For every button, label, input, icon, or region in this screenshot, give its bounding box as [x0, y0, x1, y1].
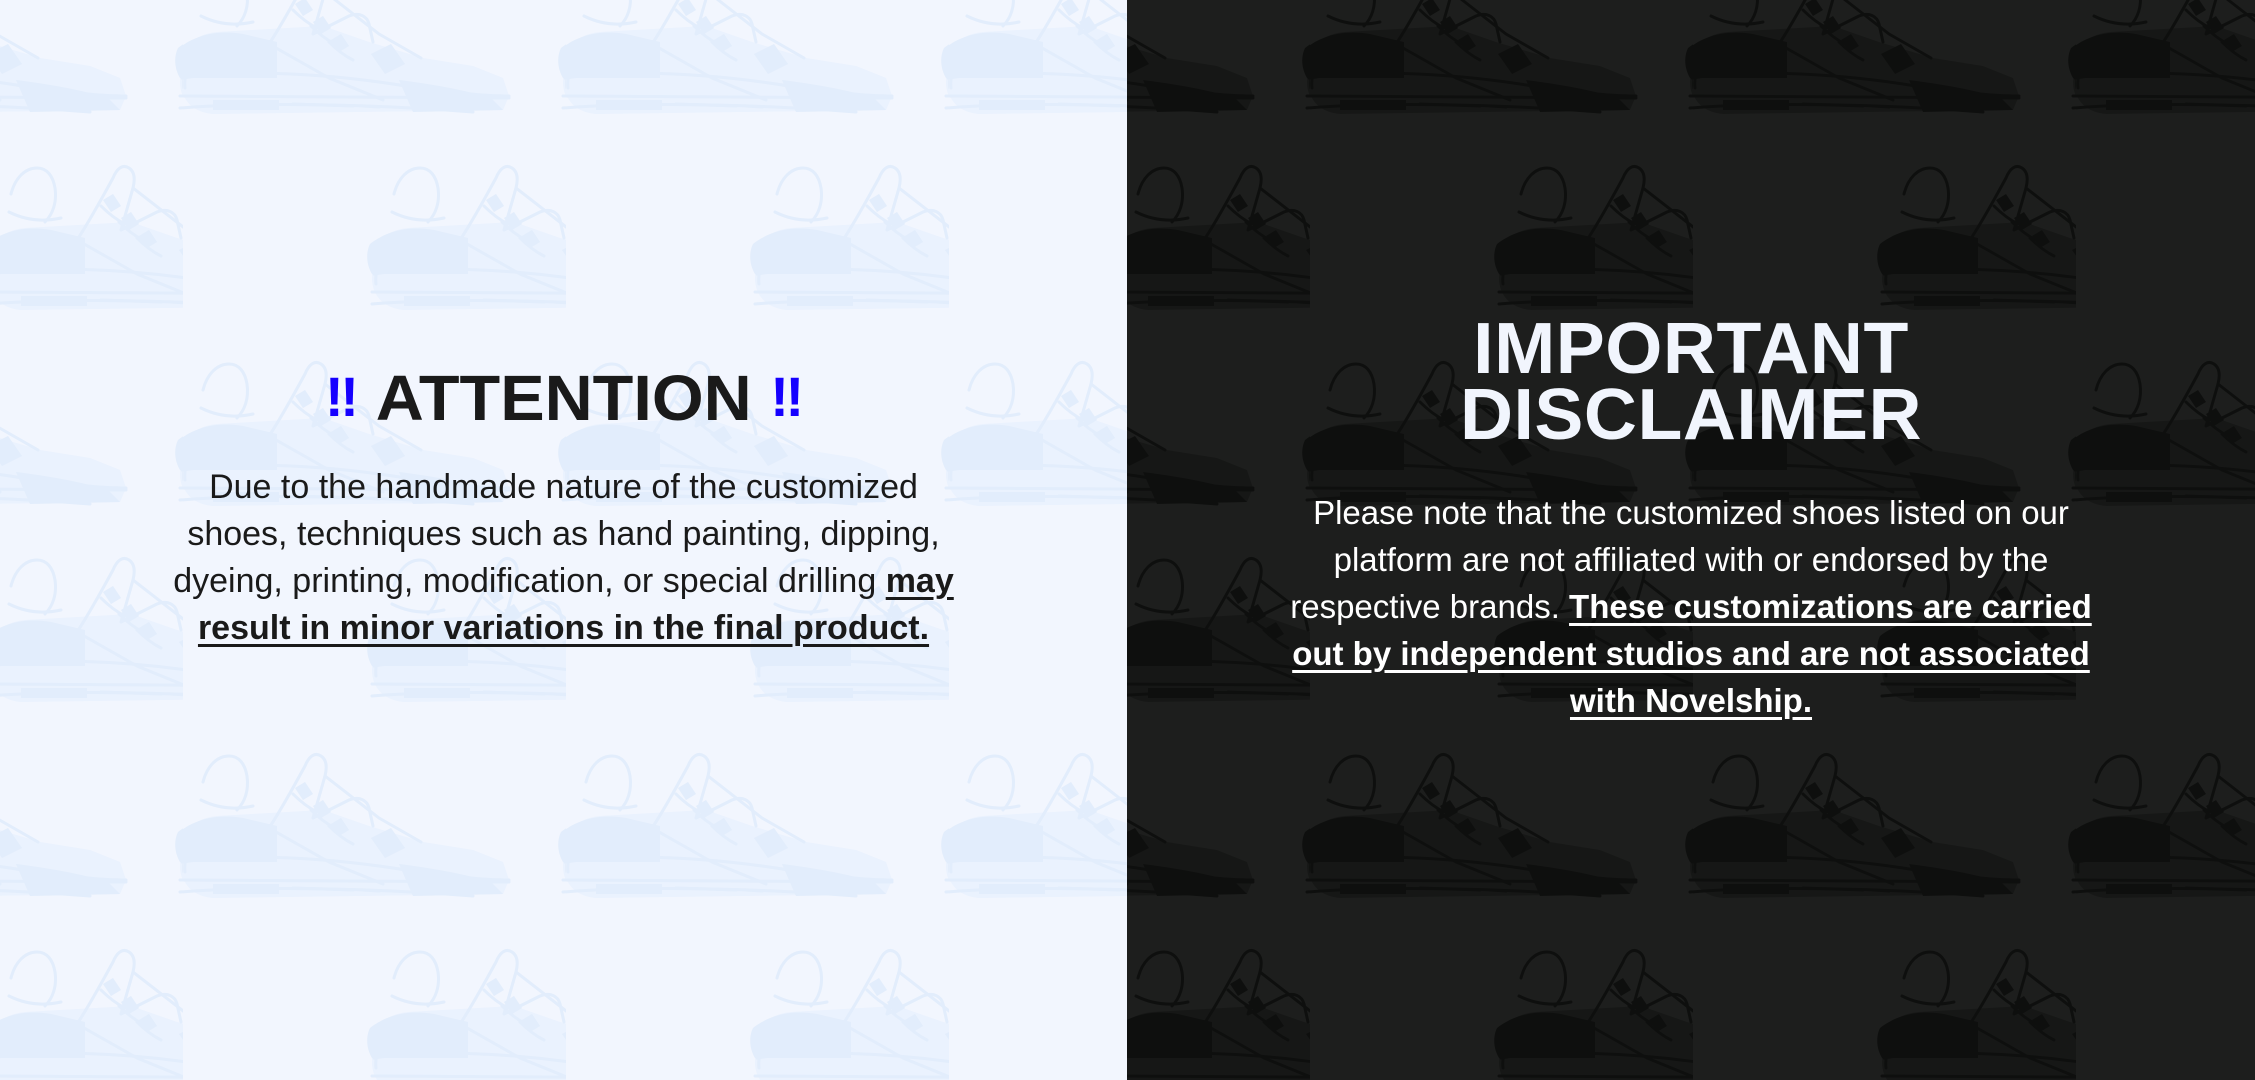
- double-exclamation-right-icon: ‼: [770, 369, 802, 425]
- attention-disclaimer-banner: ‼ ATTENTION ‼ Due to the handmade nature…: [0, 0, 2255, 1080]
- disclaimer-body: Please note that the customized shoes li…: [1285, 490, 2097, 724]
- attention-heading: ‼ ATTENTION ‼: [0, 368, 1127, 429]
- attention-heading-text: ATTENTION: [376, 368, 752, 429]
- attention-content: ‼ ATTENTION ‼ Due to the handmade nature…: [0, 368, 1127, 711]
- disclaimer-heading: IMPORTANT DISCLAIMER: [1127, 316, 2255, 448]
- disclaimer-content: IMPORTANT DISCLAIMER Please note that th…: [1127, 316, 2255, 765]
- disclaimer-heading-line-1: IMPORTANT: [1127, 316, 2255, 382]
- attention-body: Due to the handmade nature of the custom…: [159, 464, 969, 652]
- disclaimer-panel: IMPORTANT DISCLAIMER Please note that th…: [1127, 0, 2255, 1080]
- attention-panel: ‼ ATTENTION ‼ Due to the handmade nature…: [0, 0, 1127, 1080]
- disclaimer-heading-line-2: DISCLAIMER: [1127, 382, 2255, 448]
- attention-body-normal: Due to the handmade nature of the custom…: [173, 468, 939, 600]
- double-exclamation-left-icon: ‼: [325, 369, 357, 425]
